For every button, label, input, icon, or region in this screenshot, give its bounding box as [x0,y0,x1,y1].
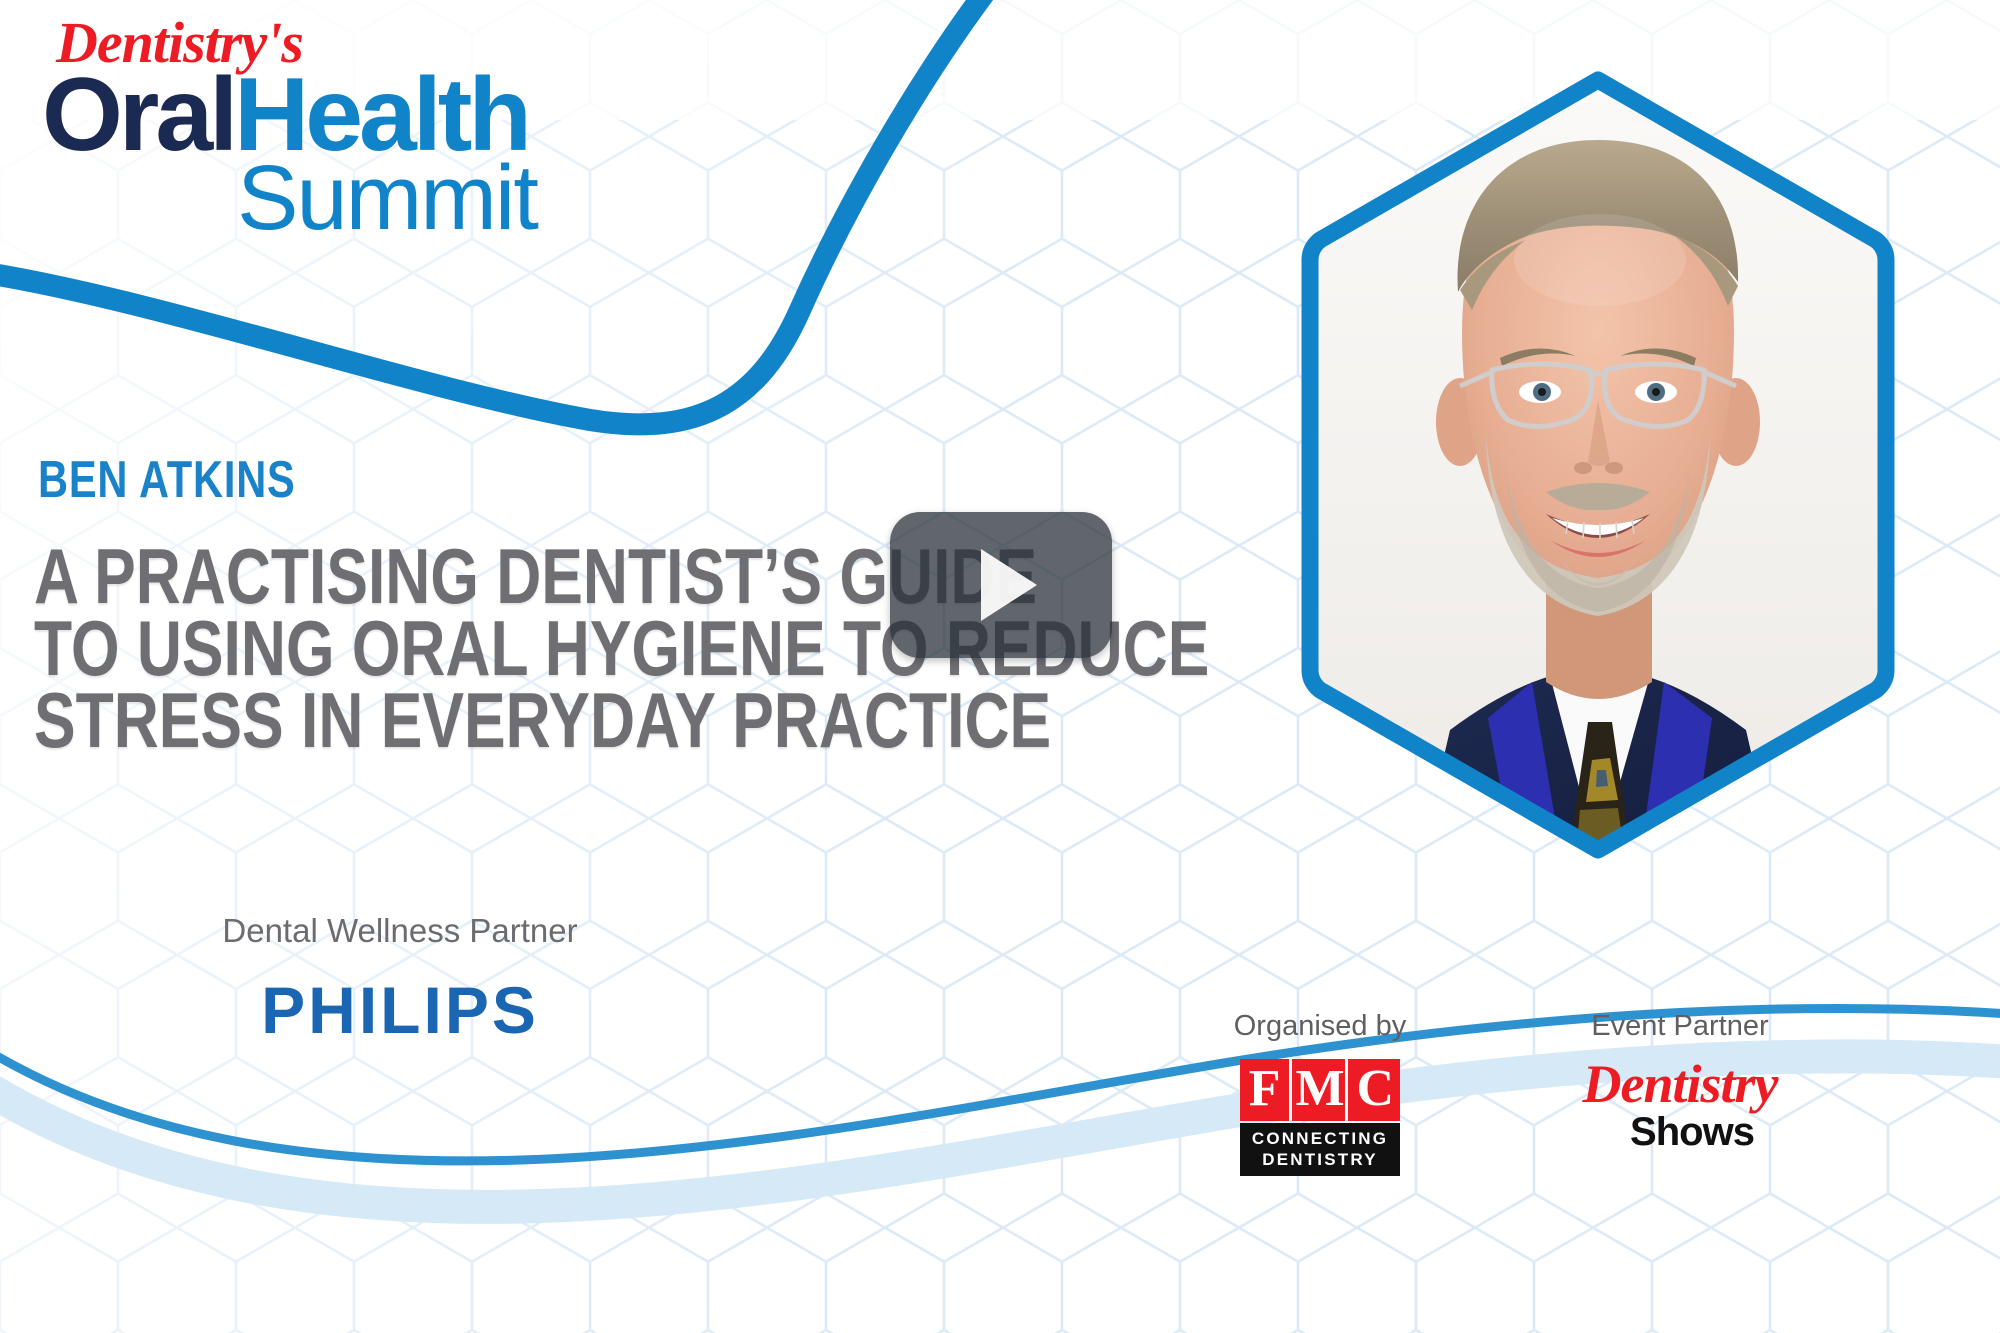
fmc-letter-m: M [1295,1059,1347,1121]
philips-logo: PHILIPS [40,972,760,1048]
talk-title-line-3: STRESS IN EVERYDAY PRACTICE [34,684,1074,756]
partner-logos-row: Organised by F M C CONNECTING DENTISTRY … [1180,1010,1820,1176]
event-partner-column: Event Partner Dentistry Shows [1540,1010,1820,1176]
dental-wellness-partner-block: Dental Wellness Partner PHILIPS [40,912,760,1048]
fmc-letter-f: F [1240,1059,1292,1121]
video-thumbnail-slide: Dentistry's OralHealth Summit BEN ATKINS… [0,0,2000,1333]
speaker-portrait [1300,70,1896,860]
fmc-tagline-line-1: CONNECTING [1240,1128,1400,1149]
play-button[interactable] [890,512,1112,658]
dentistry-shows-logo: Dentistry Shows [1582,1059,1777,1153]
fmc-tagline: CONNECTING DENTISTRY [1240,1123,1400,1176]
fmc-tagline-line-2: DENTISTRY [1240,1149,1400,1170]
fmc-logo: F M C CONNECTING DENTISTRY [1240,1059,1400,1176]
organised-by-column: Organised by F M C CONNECTING DENTISTRY [1180,1010,1460,1176]
event-partner-label: Event Partner [1540,1010,1820,1043]
speaker-name: BEN ATKINS [38,450,296,510]
logo-oral-word: Oral [42,57,234,173]
play-triangle-icon [981,549,1037,621]
fmc-letter-c: C [1351,1059,1400,1121]
organised-by-label: Organised by [1180,1010,1460,1043]
dentistry-word: Dentistry [1582,1059,1777,1109]
fmc-letters: F M C [1240,1059,1400,1121]
talk-title: A PRACTISING DENTIST’S GUIDE TO USING OR… [34,540,1334,756]
dental-wellness-partner-label: Dental Wellness Partner [40,912,760,950]
oral-health-summit-logo: Dentistry's OralHealth Summit [42,14,662,242]
shows-word: Shows [1606,1111,1777,1153]
